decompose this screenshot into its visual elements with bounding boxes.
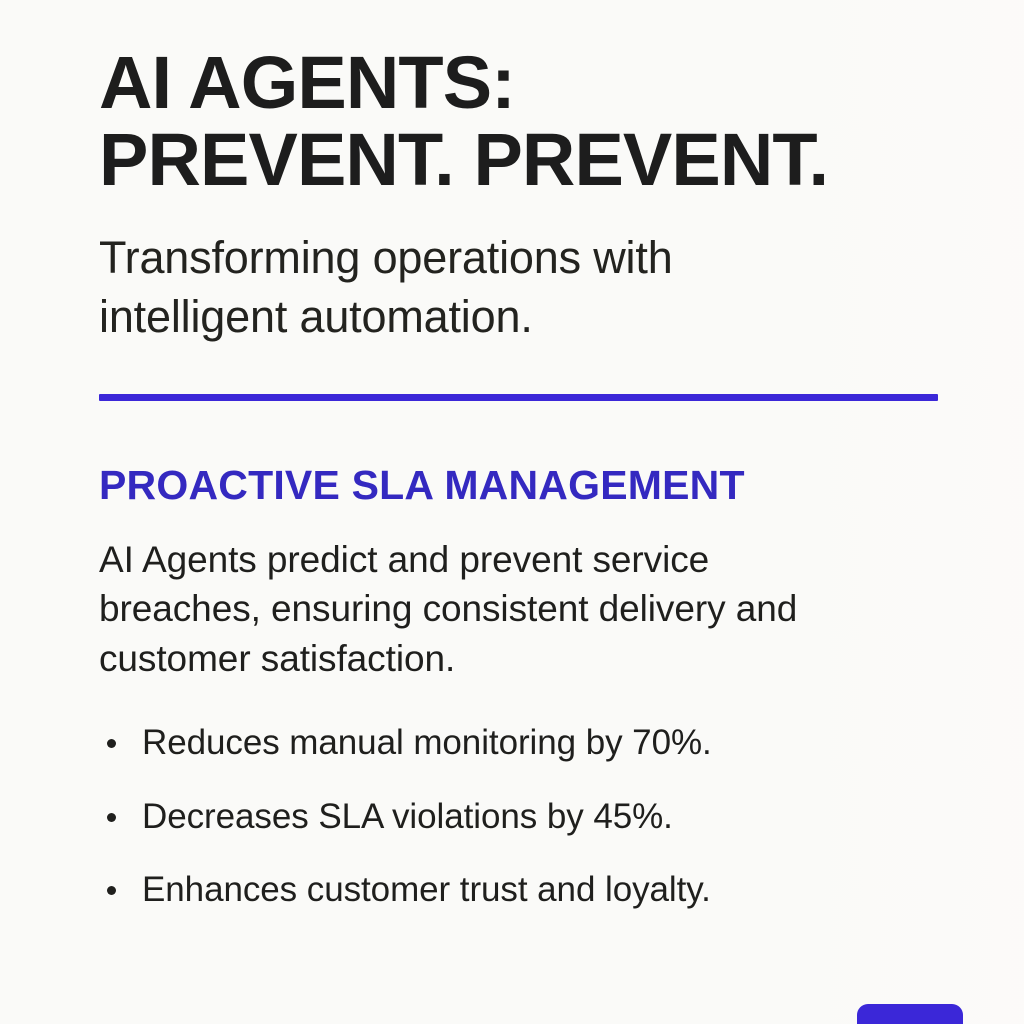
bullet-dot-icon [107,813,116,822]
list-item: Decreases SLA violations by 45%. [99,795,938,839]
slide-content: AI AGENTS: PREVENT. PREVENT. Transformin… [0,0,1024,1024]
headline-line-1: AI AGENTS: [99,47,938,119]
accent-divider-rule [99,394,938,401]
divider-container [99,394,938,401]
cta-button[interactable] [857,1004,963,1024]
page-title: AI AGENTS: PREVENT. PREVENT. [99,47,938,196]
bullet-dot-icon [107,739,116,748]
bullet-dot-icon [107,886,116,895]
subtitle: Transforming operations with intelligent… [99,228,859,348]
list-item: Enhances customer trust and loyalty. [99,868,938,912]
list-item-label: Decreases SLA violations by 45%. [142,797,673,836]
list-item: Reduces manual monitoring by 70%. [99,721,938,765]
section-body-text: AI Agents predict and prevent service br… [99,535,869,683]
headline-line-2: PREVENT. PREVENT. [99,124,938,196]
benefits-list: Reduces manual monitoring by 70%. Decrea… [99,721,938,912]
section-heading: PROACTIVE SLA MANAGEMENT [99,462,938,509]
list-item-label: Reduces manual monitoring by 70%. [142,723,712,762]
list-item-label: Enhances customer trust and loyalty. [142,870,711,909]
